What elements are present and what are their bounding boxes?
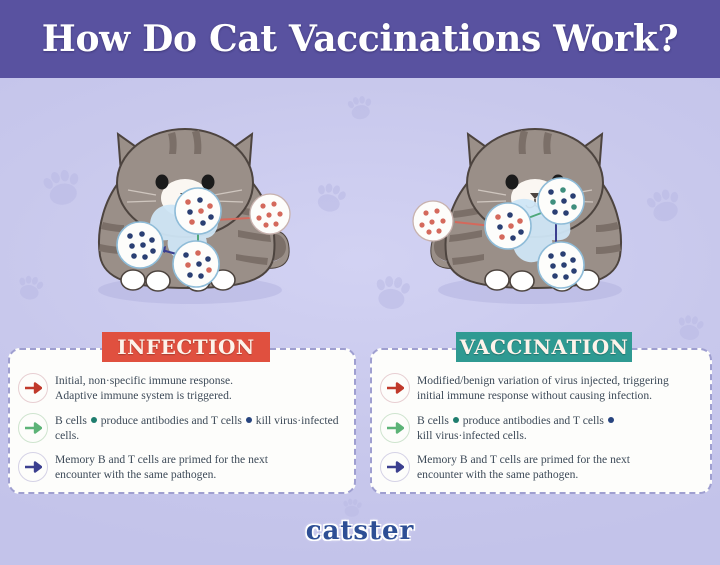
list-item: Initial, non·specific immune response. A… — [18, 372, 348, 404]
page-title: How Do Cat Vaccinations Work? — [0, 0, 720, 78]
infographic-page: How Do Cat Vaccinations Work? — [0, 0, 720, 565]
cat-illustration — [0, 78, 720, 328]
memory-cell — [117, 222, 163, 268]
injected-cell — [485, 203, 531, 249]
immune-response-cell — [538, 178, 584, 224]
vaccine-particle — [413, 201, 453, 241]
virus-particle — [250, 194, 290, 234]
catster-logo[interactable]: catster — [0, 516, 720, 546]
infection-panel: INFECTION Initial, non·specific immune r… — [8, 348, 356, 494]
b-cell-dot-icon — [91, 417, 97, 423]
list-item: B cells produce antibodies and T cells k… — [18, 412, 348, 444]
arrow-right-icon — [380, 373, 410, 403]
bullet-text: B cells produce antibodies and T cells k… — [55, 412, 348, 444]
bullet-text: B cells produce antibodies and T cells k… — [417, 412, 615, 444]
vaccination-bullet-list: Modified/benign variation of virus injec… — [380, 372, 704, 491]
infected-cell — [175, 188, 221, 234]
bullet-text: Memory B and T cells are primed for the … — [55, 451, 268, 483]
bullet-text: Memory B and T cells are primed for the … — [417, 451, 630, 483]
t-cell-dot-icon — [246, 417, 252, 423]
arrow-right-icon — [380, 413, 410, 443]
infection-cat — [98, 129, 290, 304]
list-item: Modified/benign variation of virus injec… — [380, 372, 704, 404]
arrow-right-icon — [18, 452, 48, 482]
list-item: Memory B and T cells are primed for the … — [18, 451, 348, 483]
vaccination-cat — [413, 129, 622, 304]
arrow-right-icon — [18, 373, 48, 403]
b-cell-dot-icon — [453, 417, 459, 423]
arrow-right-icon — [380, 452, 410, 482]
arrow-right-icon — [18, 413, 48, 443]
infection-bullet-list: Initial, non·specific immune response. A… — [18, 372, 348, 491]
bullet-text: Initial, non·specific immune response. A… — [55, 372, 233, 404]
infection-banner: INFECTION — [102, 332, 270, 362]
vaccination-banner: VACCINATION — [456, 332, 632, 362]
t-cell-dot-icon — [608, 417, 614, 423]
list-item: Memory B and T cells are primed for the … — [380, 451, 704, 483]
bullet-text: Modified/benign variation of virus injec… — [417, 372, 669, 404]
memory-cell — [538, 242, 584, 288]
list-item: B cells produce antibodies and T cells k… — [380, 412, 704, 444]
immune-response-cell — [173, 241, 219, 287]
vaccination-panel: VACCINATION Modified/benign variation of… — [370, 348, 712, 494]
